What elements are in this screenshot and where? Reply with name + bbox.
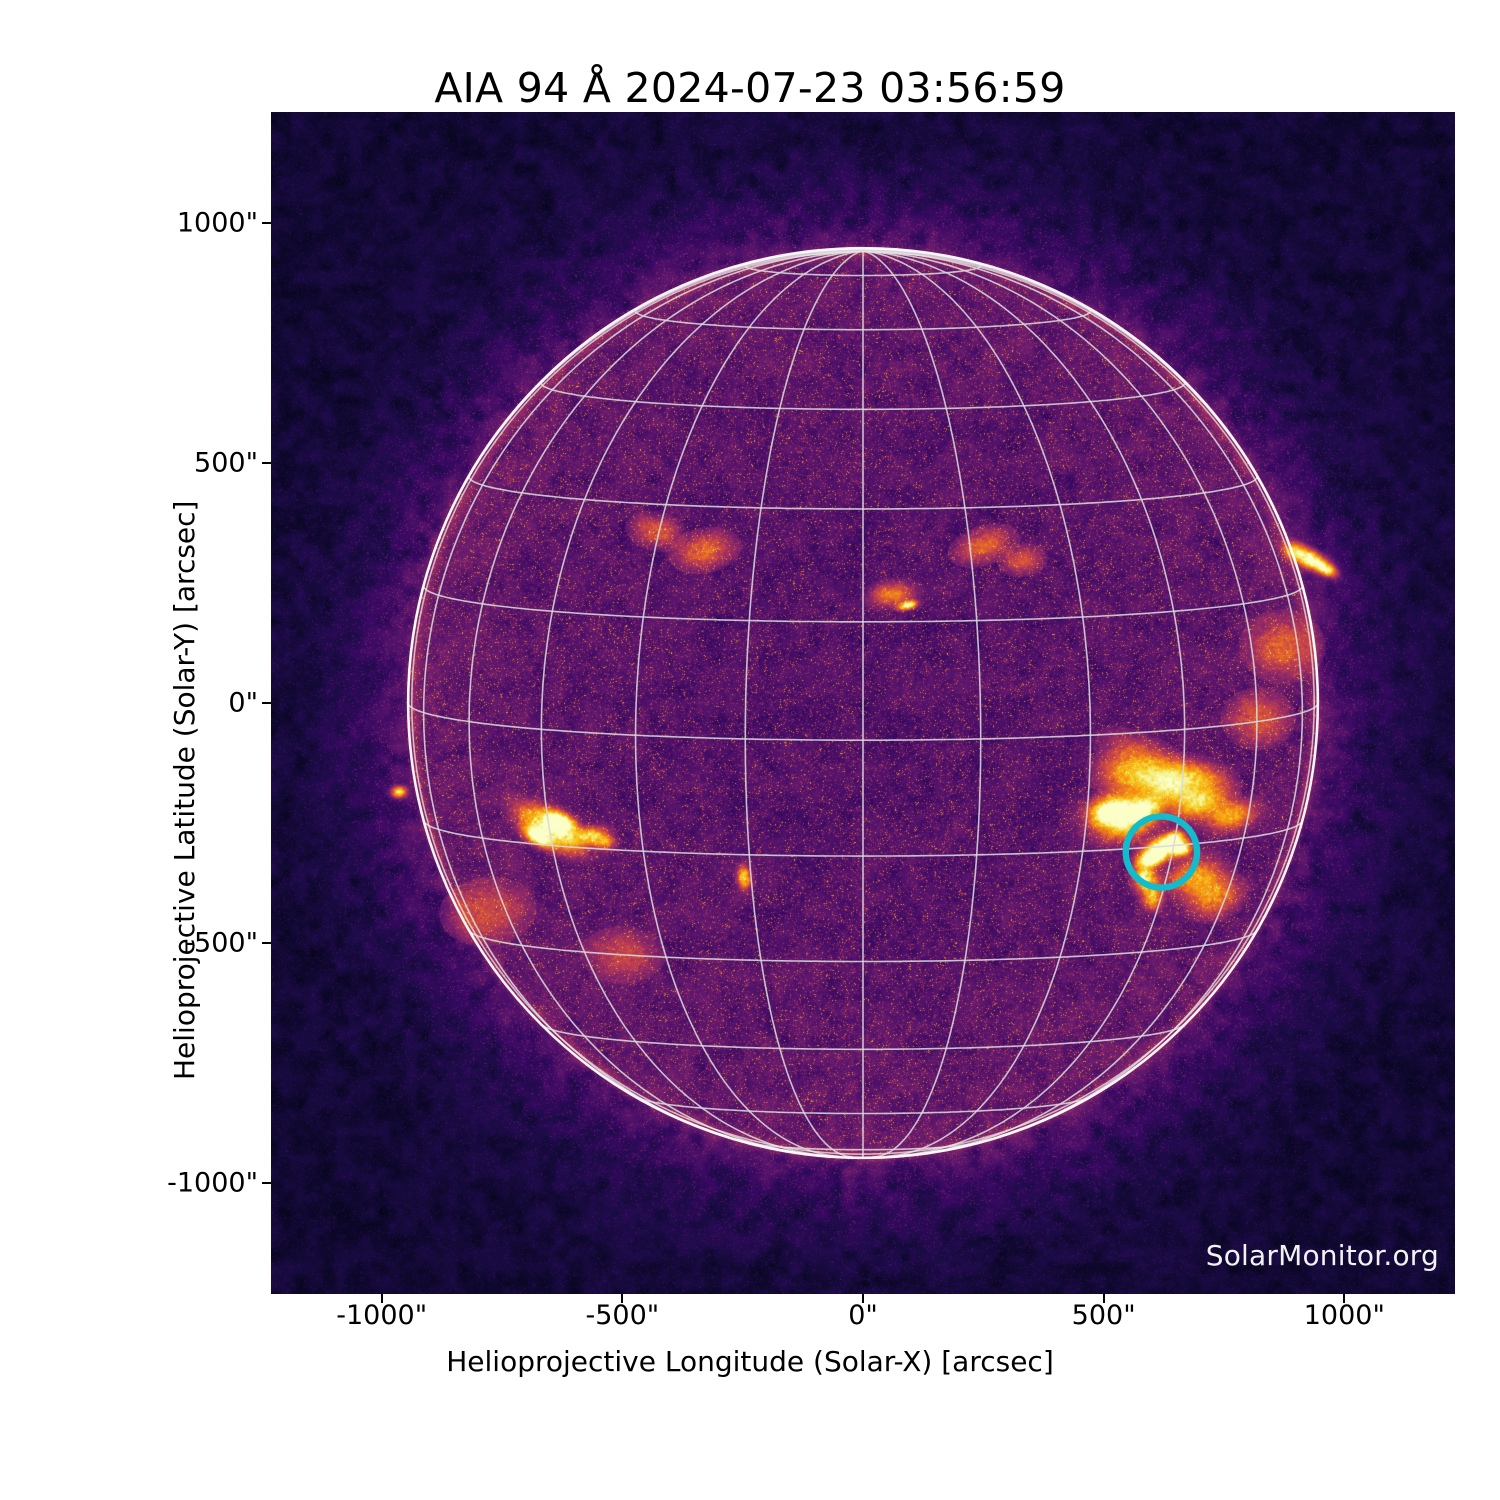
y-tick-label: 500": [194, 447, 258, 478]
y-tick-label: -1000": [167, 1168, 258, 1199]
x-tick-label: 1000": [1304, 1300, 1385, 1331]
y-tick-mark: [262, 462, 271, 464]
x-tick-label: 0": [848, 1300, 878, 1331]
x-tick-mark: [381, 1294, 383, 1303]
x-tick-mark: [1343, 1294, 1345, 1303]
x-tick-label: 500": [1072, 1300, 1136, 1331]
y-axis-ticks: 1000"500"0"-500"-1000": [0, 0, 258, 1500]
plot-area: SolarMonitor.org: [271, 112, 1455, 1294]
x-tick-label: -500": [585, 1300, 659, 1331]
y-tick-label: 1000": [177, 207, 258, 238]
watermark-label: SolarMonitor.org: [1206, 1239, 1439, 1272]
y-tick-label: 0": [228, 688, 258, 719]
active-region-marker[interactable]: [1126, 816, 1197, 887]
x-tick-mark: [862, 1294, 864, 1303]
x-tick-label: -1000": [336, 1300, 427, 1331]
y-tick-mark: [262, 1182, 271, 1184]
y-tick-mark: [262, 702, 271, 704]
active-region-marker-overlay: [271, 112, 1455, 1294]
plot-clip: [271, 112, 1455, 1294]
title-text: AIA 94 Å 2024-07-23 03:56:59: [434, 64, 1065, 112]
y-tick-mark: [262, 222, 271, 224]
solar-image-figure: AIA 94 Å 2024-07-23 03:56:59 SolarMonito…: [0, 0, 1500, 1500]
y-axis-label: Helioprojective Latitude (Solar-Y) [arcs…: [168, 501, 201, 1080]
x-tick-mark: [621, 1294, 623, 1303]
x-axis-label: Helioprojective Longitude (Solar-X) [arc…: [0, 1345, 1500, 1378]
y-tick-mark: [262, 942, 271, 944]
x-tick-mark: [1103, 1294, 1105, 1303]
